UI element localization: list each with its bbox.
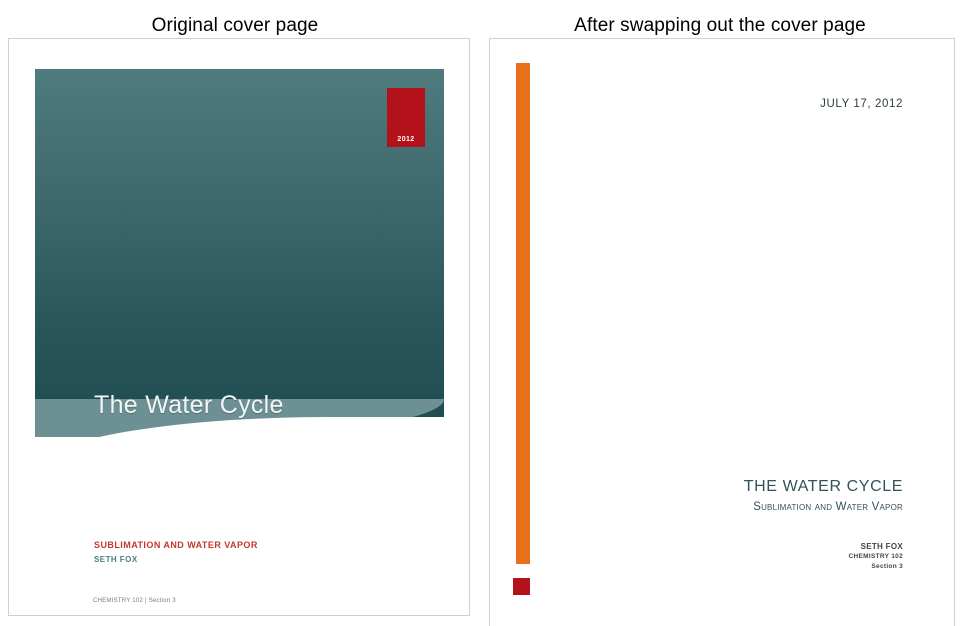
original-cover-title: The Water Cycle xyxy=(94,391,284,420)
swapped-cover-section: Section 3 xyxy=(560,563,903,570)
swapped-cover-title: THE WATER CYCLE xyxy=(560,478,903,496)
swapped-cover-caption: After swapping out the cover page xyxy=(485,15,955,37)
orange-accent-bar xyxy=(516,63,530,564)
red-accent-square xyxy=(513,578,530,595)
original-cover-page[interactable]: 2012 The Water Cycle SUBLIMATION AND WAT… xyxy=(8,38,470,616)
original-cover-subtitle: SUBLIMATION AND WATER VAPOR xyxy=(94,540,258,550)
screenshot-root: Original cover page After swapping out t… xyxy=(0,0,963,626)
swapped-cover-subtitle: Sublimation and Water Vapor xyxy=(560,501,903,513)
swapped-cover-author: SETH FOX xyxy=(560,542,903,551)
swapped-cover-page[interactable] xyxy=(489,38,955,626)
teal-banner-graphic xyxy=(35,69,444,437)
swapped-cover-course: CHEMISTRY 102 xyxy=(560,553,903,560)
year-badge: 2012 xyxy=(387,88,425,147)
original-cover-caption: Original cover page xyxy=(0,15,470,37)
year-badge-label: 2012 xyxy=(387,136,425,143)
swapped-cover-date: JULY 17, 2012 xyxy=(560,98,903,110)
original-cover-author: SETH FOX xyxy=(94,555,138,564)
original-cover-footer: CHEMISTRY 102 | Section 3 xyxy=(93,598,176,604)
teal-banner-curve-mask-lower xyxy=(29,437,453,471)
